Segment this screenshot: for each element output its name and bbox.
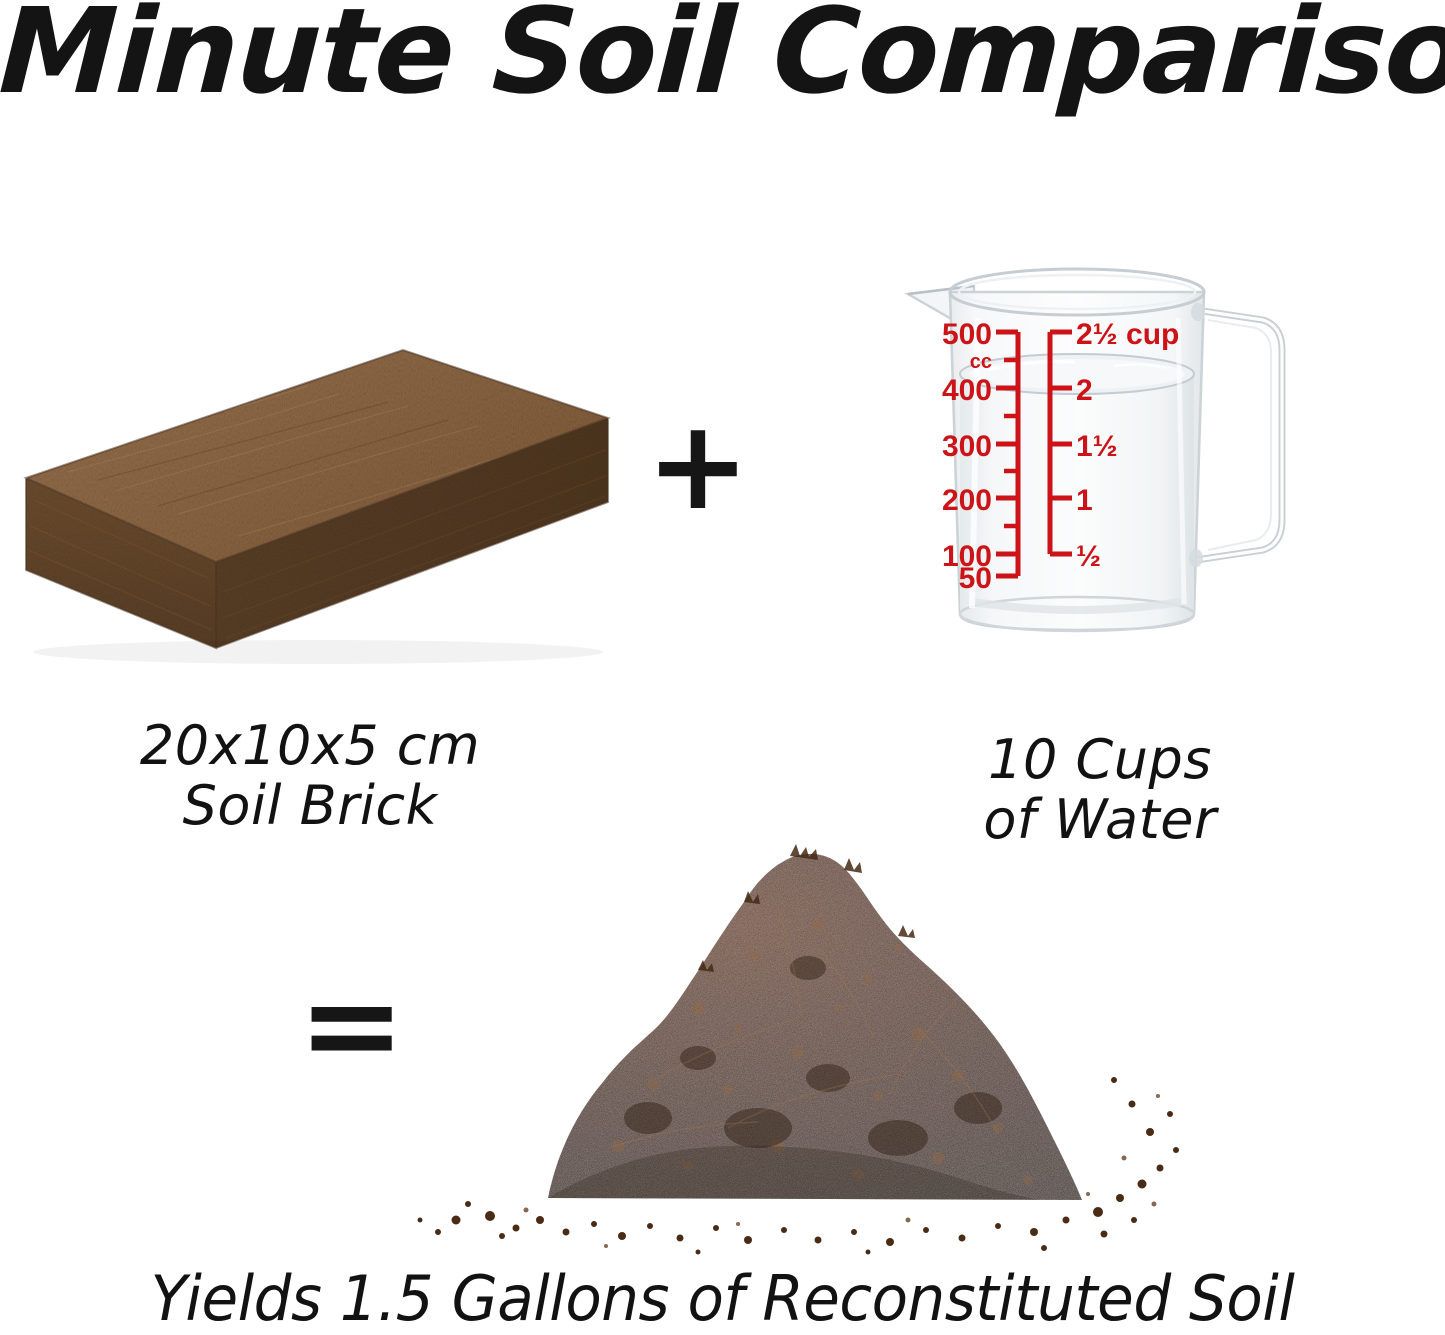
cup-handle [1196, 310, 1282, 560]
cup-label-two-half: 2½ cup [1076, 318, 1179, 351]
cup-label-half: ½ [1076, 540, 1101, 573]
cup-label-one-half: 1½ [1076, 430, 1118, 463]
cc-label-400: 400 [942, 374, 992, 407]
soil-pile-graphic [398, 828, 1208, 1258]
cc-label-500: 500 [942, 318, 992, 351]
plus-operator: + [646, 404, 742, 532]
soil-pile-image [398, 828, 1208, 1258]
measuring-cup-image: 500 400 300 200 100 50 cc 2½ cup 2 1½ 1 … [878, 258, 1303, 658]
cc-label-300: 300 [942, 430, 992, 463]
page-title: Minute Soil Comparison [0, 0, 1445, 116]
measuring-cup-graphic: 500 400 300 200 100 50 cc 2½ cup 2 1½ 1 … [878, 258, 1303, 658]
soil-brick-image [8, 330, 628, 670]
brick-caption: 20x10x5 cm Soil Brick [40, 716, 580, 837]
cup-label-two: 2 [1076, 374, 1093, 407]
yield-caption: Yields 1.5 Gallons of Reconstituted Soil [29, 1262, 1416, 1335]
cup-label-one: 1 [1076, 484, 1093, 517]
soil-brick-graphic [8, 330, 628, 670]
cc-unit-label: cc [970, 351, 992, 373]
cc-label-50: 50 [959, 562, 992, 595]
cc-label-200: 200 [942, 484, 992, 517]
equals-operator: = [298, 962, 394, 1102]
